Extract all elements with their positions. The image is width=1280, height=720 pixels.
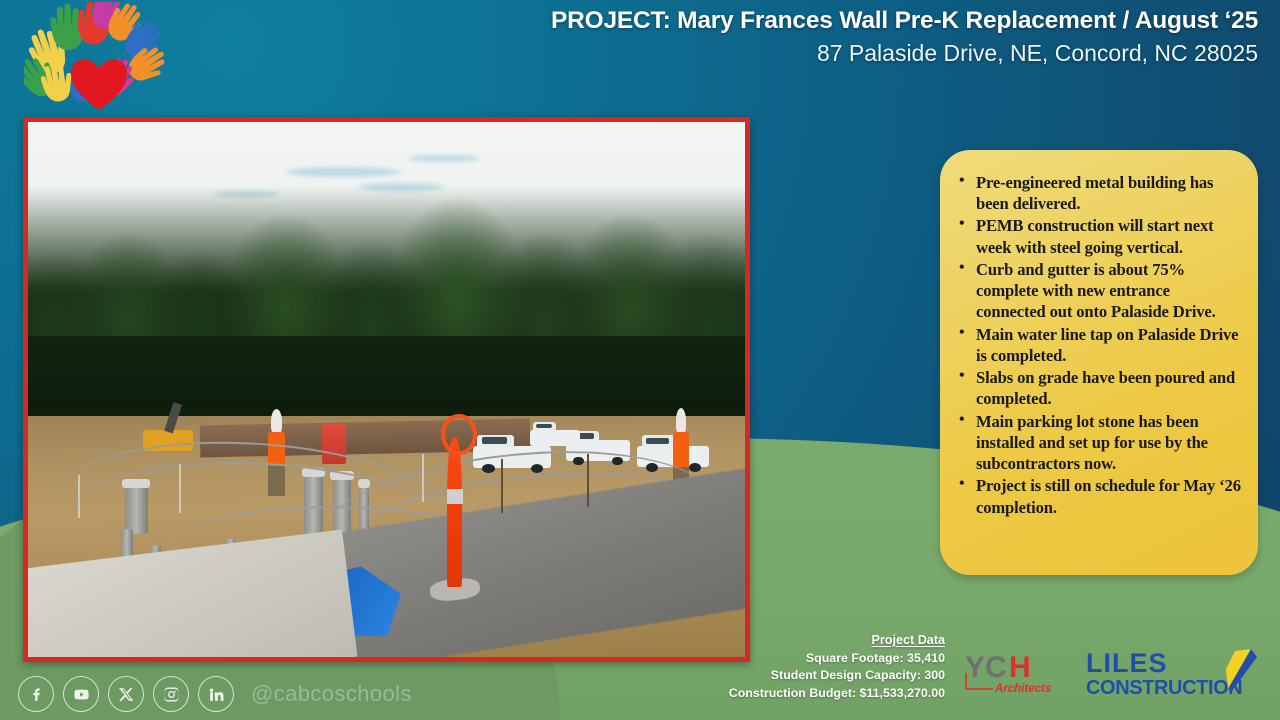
partner-logos: Y C H Architects LILES CONSTRUCTION	[963, 645, 1263, 707]
photo-content	[28, 122, 745, 657]
slide-header: PROJECT: Mary Frances Wall Pre-K Replace…	[551, 4, 1258, 69]
svg-text:Y: Y	[965, 651, 985, 684]
instagram-icon[interactable]	[153, 676, 189, 712]
list-item: Main parking lot stone has been installe…	[954, 411, 1242, 475]
district-logo	[24, 2, 174, 122]
youtube-icon[interactable]	[63, 676, 99, 712]
slide-root: PROJECT: Mary Frances Wall Pre-K Replace…	[0, 0, 1280, 720]
project-data-block: Project Data Square Footage: 35,410 Stud…	[690, 632, 945, 703]
x-twitter-icon[interactable]	[108, 676, 144, 712]
project-updates-card: Pre-engineered metal building has been d…	[940, 150, 1258, 575]
photo-safety-cone	[447, 438, 462, 588]
project-address: 87 Palaside Drive, NE, Concord, NC 28025	[551, 37, 1258, 69]
svg-text:Architects: Architects	[994, 683, 1051, 695]
list-item: Project is still on schedule for May ‘26…	[954, 475, 1242, 517]
liles-construction-logo: LILES CONSTRUCTION	[1085, 647, 1265, 703]
project-title: PROJECT: Mary Frances Wall Pre-K Replace…	[551, 4, 1258, 37]
ych-architects-logo: Y C H Architects	[963, 647, 1073, 703]
photo-survey-stake	[78, 475, 80, 518]
social-handle: @cabcoschools	[251, 681, 412, 707]
photo-suv	[530, 430, 580, 446]
social-bar: @cabcoschools	[18, 676, 412, 712]
photo-survey-stake	[179, 464, 181, 512]
photo-survey-stake	[422, 454, 424, 502]
list-item: Pre-engineered metal building has been d…	[954, 172, 1242, 214]
project-data-title: Project Data	[690, 632, 945, 650]
list-item: Slabs on grade have been poured and comp…	[954, 367, 1242, 409]
svg-text:CONSTRUCTION: CONSTRUCTION	[1086, 677, 1242, 699]
svg-text:H: H	[1009, 651, 1031, 684]
photo-rebar	[501, 459, 503, 513]
construction-photo	[23, 117, 750, 662]
project-data-construction-budget: Construction Budget: $11,533,270.00	[690, 685, 945, 703]
linkedin-icon[interactable]	[198, 676, 234, 712]
project-data-square-footage: Square Footage: 35,410	[690, 650, 945, 668]
list-item: Main water line tap on Palaside Drive is…	[954, 324, 1242, 366]
photo-rebar	[587, 454, 589, 508]
project-updates-list: Pre-engineered metal building has been d…	[954, 172, 1242, 518]
list-item: PEMB construction will start next week w…	[954, 215, 1242, 257]
facebook-icon[interactable]	[18, 676, 54, 712]
svg-text:LILES: LILES	[1086, 648, 1168, 678]
list-item: Curb and gutter is about 75% complete wi…	[954, 259, 1242, 323]
project-data-student-capacity: Student Design Capacity: 300	[690, 667, 945, 685]
svg-text:C: C	[985, 651, 1007, 684]
